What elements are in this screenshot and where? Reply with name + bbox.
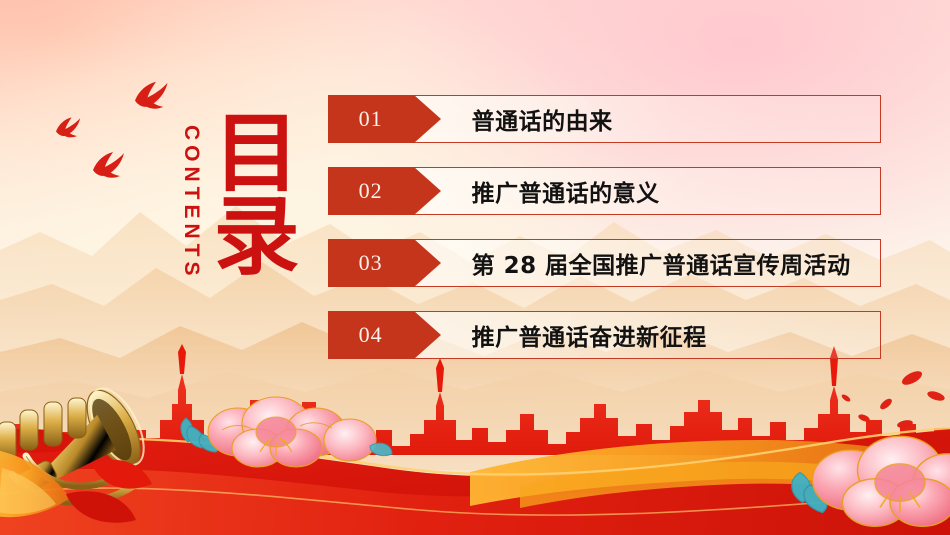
city-skyline-icon <box>0 374 950 455</box>
item-number-tag: 02 <box>328 167 414 216</box>
contents-list: 01 普通话的由来 02 推广普通话的意义 03 第 28 届全国推广普通话宣传… <box>328 95 881 359</box>
item-label: 推广普通话的意义 <box>414 168 880 214</box>
list-item[interactable]: 03 第 28 届全国推广普通话宣传周活动 <box>328 239 881 287</box>
dove-icon <box>56 117 80 137</box>
list-item[interactable]: 04 推广普通话奋进新征程 <box>328 311 881 359</box>
item-label: 推广普通话奋进新征程 <box>414 312 880 358</box>
trumpet-icon <box>0 380 155 522</box>
peony-flower-icon <box>181 397 392 467</box>
item-number: 01 <box>359 108 383 130</box>
item-number-tag: 03 <box>328 239 414 288</box>
item-label: 普通话的由来 <box>414 96 880 142</box>
dove-icon <box>93 152 124 178</box>
page-title: 目 录 <box>198 113 315 278</box>
red-silk-ribbon <box>0 428 950 535</box>
item-number-tag: 01 <box>328 95 414 144</box>
contents-subtitle: CONTENTS <box>179 125 203 325</box>
peony-flower-icon <box>792 436 950 526</box>
falling-petals-icon <box>841 368 946 429</box>
item-number: 02 <box>359 180 383 202</box>
item-label: 第 28 届全国推广普通话宣传周活动 <box>414 240 880 286</box>
item-number-tag: 04 <box>328 311 414 360</box>
item-number: 04 <box>359 324 383 346</box>
item-number: 03 <box>359 252 383 274</box>
contents-title-block: 目 录 CONTENTS <box>140 95 315 370</box>
list-item[interactable]: 02 推广普通话的意义 <box>328 167 881 215</box>
presentation-slide: 目 录 CONTENTS 01 普通话的由来 02 推广普通话的意义 03 第 … <box>0 0 950 535</box>
list-item[interactable]: 01 普通话的由来 <box>328 95 881 143</box>
